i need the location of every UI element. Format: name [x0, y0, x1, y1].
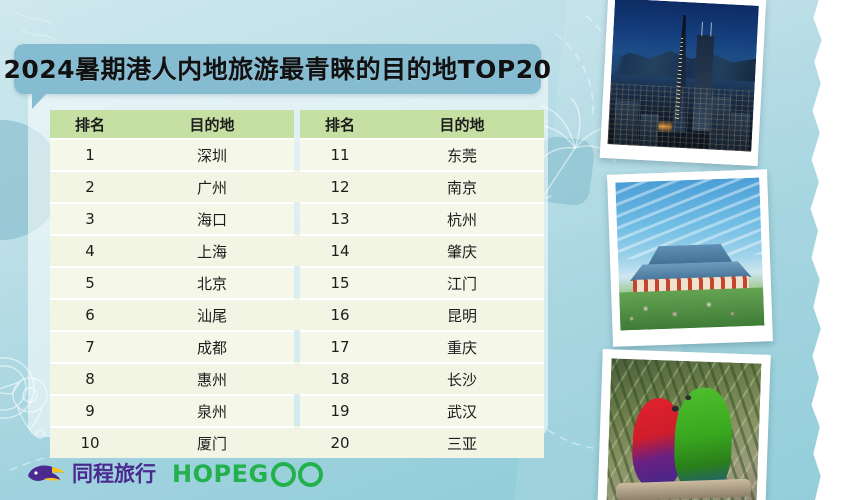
table-row: 5 北京 15 江门: [50, 266, 544, 298]
header-rank-right: 排名: [300, 110, 380, 138]
cell-rank: 18: [300, 362, 380, 394]
cell-rank: 11: [300, 138, 380, 170]
cell-rank: 17: [300, 330, 380, 362]
cell-destination: 武汉: [380, 394, 544, 426]
shenzhen-cityscape-art: [607, 0, 758, 152]
shenzhen-photo-image: [607, 0, 758, 152]
cell-rank: 15: [300, 266, 380, 298]
header-destination-right: 目的地: [380, 110, 544, 138]
cell-destination: 南京: [380, 170, 544, 202]
shenzhen-skyline-photo: [600, 0, 767, 166]
table-row: 2 广州 12 南京: [50, 170, 544, 202]
cell-rank: 9: [50, 394, 130, 426]
title-banner: 2024暑期港人内地旅游最青睐的目的地TOP20: [14, 44, 541, 94]
memorial-hall-art: [615, 178, 764, 331]
table-row: 9 泉州 19 武汉: [50, 394, 544, 426]
flower-garden: [619, 287, 764, 330]
tongcheng-brand: 同程旅行: [26, 462, 156, 486]
table-header-row: 排名 目的地 排名 目的地: [50, 110, 544, 138]
table-row: 1 深圳 11 东莞: [50, 138, 544, 170]
table-head: 排名 目的地 排名 目的地: [50, 110, 544, 138]
cell-rank: 7: [50, 330, 130, 362]
table-row: 7 成都 17 重庆: [50, 330, 544, 362]
cell-rank: 14: [300, 234, 380, 266]
cell-rank: 16: [300, 298, 380, 330]
table-row: 3 海口 13 杭州: [50, 202, 544, 234]
cell-rank: 19: [300, 394, 380, 426]
hopegoo-brand: HOPEG: [172, 462, 323, 487]
cell-rank: 6: [50, 298, 130, 330]
table-row: 6 汕尾 16 昆明: [50, 298, 544, 330]
cell-destination: 杭州: [380, 202, 544, 234]
cell-destination: 江门: [380, 266, 544, 298]
banner-tail: [32, 92, 48, 109]
cell-destination: 上海: [130, 234, 294, 266]
cell-destination: 海口: [130, 202, 294, 234]
header-rank-left: 排名: [50, 110, 130, 138]
cell-rank: 12: [300, 170, 380, 202]
footer-brand-bar: 同程旅行 HOPEG: [0, 448, 845, 500]
cell-destination: 成都: [130, 330, 294, 362]
cell-destination: 泉州: [130, 394, 294, 426]
destination-ranking-table: 排名 目的地 排名 目的地 1 深圳 11 东莞 2 广州 12 南京: [50, 110, 544, 458]
table-body: 1 深圳 11 东莞 2 广州 12 南京 3 海口 13 杭州 4: [50, 138, 544, 458]
memorial-photo-image: [615, 178, 764, 331]
hopegoo-wordmark: HOPEG: [172, 462, 269, 486]
hopegoo-ring-o-1: [271, 462, 296, 487]
table-row: 4 上海 14 肇庆: [50, 234, 544, 266]
cell-rank: 1: [50, 138, 130, 170]
cell-destination: 重庆: [380, 330, 544, 362]
city-lights: [607, 83, 754, 152]
cell-rank: 13: [300, 202, 380, 234]
cell-destination: 东莞: [380, 138, 544, 170]
cell-destination: 昆明: [380, 298, 544, 330]
hopegoo-ring-o-2: [298, 462, 323, 487]
cell-destination: 深圳: [130, 138, 294, 170]
torn-paper-edge: [600, 150, 764, 166]
cell-destination: 惠州: [130, 362, 294, 394]
page-title: 2024暑期港人内地旅游最青睐的目的地TOP20: [4, 57, 552, 82]
tongcheng-wordmark: 同程旅行: [72, 464, 156, 485]
table-row: 8 惠州 18 长沙: [50, 362, 544, 394]
cell-destination: 广州: [130, 170, 294, 202]
header-destination-left: 目的地: [130, 110, 294, 138]
cell-destination: 长沙: [380, 362, 544, 394]
sun-yat-sen-memorial-hall-photo: [607, 169, 773, 346]
cell-destination: 北京: [130, 266, 294, 298]
cell-rank: 4: [50, 234, 130, 266]
cell-rank: 2: [50, 170, 130, 202]
top-left-scribble: [16, 12, 56, 40]
cell-rank: 3: [50, 202, 130, 234]
right-torn-paper-strip: [806, 0, 845, 500]
cell-rank: 5: [50, 266, 130, 298]
infographic-poster: 2024暑期港人内地旅游最青睐的目的地TOP20 排名 目的地 排名 目的地 1…: [0, 0, 845, 500]
tongcheng-bird-logo-icon: [26, 462, 66, 486]
cell-destination: 肇庆: [380, 234, 544, 266]
cell-destination: 汕尾: [130, 298, 294, 330]
cell-rank: 8: [50, 362, 130, 394]
